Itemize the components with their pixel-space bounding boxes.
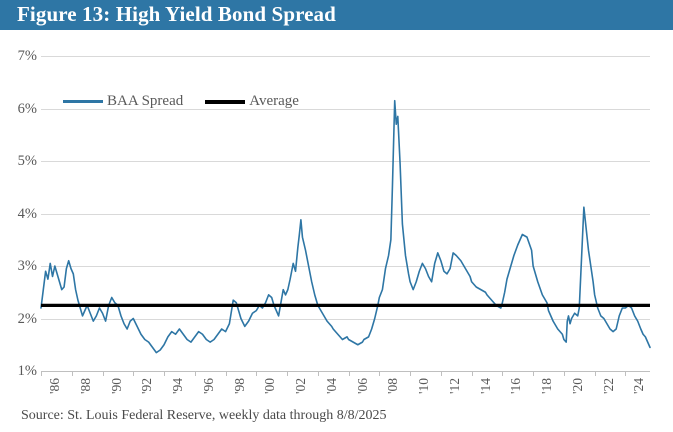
x-axis-tick-label: '06 bbox=[355, 378, 371, 394]
x-axis-tick bbox=[502, 371, 503, 376]
x-axis-tick-label: '88 bbox=[78, 378, 94, 394]
x-axis-tick-label: '92 bbox=[139, 378, 155, 394]
x-axis-tick-label: '98 bbox=[232, 378, 248, 394]
x-axis-tick-label: '10 bbox=[416, 378, 432, 394]
y-axis-tick-label: 3% bbox=[5, 259, 37, 274]
y-axis-tick-label: 2% bbox=[5, 312, 37, 327]
x-axis-tick bbox=[195, 371, 196, 376]
x-axis-tick bbox=[133, 371, 134, 376]
x-axis-tick bbox=[595, 371, 596, 376]
x-axis-tick-label: '24 bbox=[631, 378, 647, 394]
x-axis-tick bbox=[379, 371, 380, 376]
x-axis-tick-label: '14 bbox=[478, 378, 494, 394]
x-axis-tick-label: '04 bbox=[324, 378, 340, 394]
x-axis-tick-label: '96 bbox=[201, 378, 217, 394]
x-axis-tick bbox=[318, 371, 319, 376]
line-swatch-icon bbox=[205, 100, 245, 104]
x-axis-tick-label: '18 bbox=[539, 378, 555, 394]
x-axis-tick-label: '90 bbox=[109, 378, 125, 394]
page-title: Figure 13: High Yield Bond Spread bbox=[17, 2, 336, 27]
legend-label-average: Average bbox=[249, 94, 299, 109]
figure-container: Figure 13: High Yield Bond Spread 7%6%5%… bbox=[0, 0, 673, 432]
x-axis-tick-label: '94 bbox=[170, 378, 186, 394]
x-axis-tick bbox=[226, 371, 227, 376]
x-axis-tick-label: '86 bbox=[47, 378, 63, 394]
y-axis-labels: 7%6%5%4%3%2%1% bbox=[0, 56, 37, 371]
x-axis-tick-label: '02 bbox=[293, 378, 309, 394]
y-axis-tick-label: 7% bbox=[5, 49, 37, 64]
line-swatch-icon bbox=[63, 100, 103, 103]
x-axis-tick bbox=[256, 371, 257, 376]
source-note: Source: St. Louis Federal Reserve, weekl… bbox=[21, 408, 386, 424]
chart-legend: BAA Spread Average bbox=[63, 94, 299, 109]
y-axis-tick-label: 6% bbox=[5, 102, 37, 117]
x-axis-tick bbox=[164, 371, 165, 376]
x-axis-tick bbox=[410, 371, 411, 376]
chart-area: 7%6%5%4%3%2%1% '86'88'90'92'94'96'98'00'… bbox=[0, 30, 673, 405]
x-axis-tick bbox=[472, 371, 473, 376]
legend-label-baa-spread: BAA Spread bbox=[107, 94, 183, 109]
x-axis-tick bbox=[349, 371, 350, 376]
y-axis-tick-label: 5% bbox=[5, 154, 37, 169]
x-axis-tick-label: '16 bbox=[508, 378, 524, 394]
y-axis-tick-label: 1% bbox=[5, 364, 37, 379]
title-banner: Figure 13: High Yield Bond Spread bbox=[0, 0, 673, 30]
legend-item-baa-spread: BAA Spread bbox=[63, 94, 183, 109]
x-axis-tick bbox=[41, 371, 42, 376]
y-axis-tick-label: 4% bbox=[5, 207, 37, 222]
x-axis-tick bbox=[625, 371, 626, 376]
legend-item-average: Average bbox=[205, 94, 299, 109]
x-axis-tick bbox=[441, 371, 442, 376]
x-axis-tick-label: '20 bbox=[570, 378, 586, 394]
x-axis-tick bbox=[287, 371, 288, 376]
x-axis-tick bbox=[533, 371, 534, 376]
x-axis-tick-label: '08 bbox=[385, 378, 401, 394]
x-axis-tick bbox=[72, 371, 73, 376]
x-axis-tick-label: '12 bbox=[447, 378, 463, 394]
x-axis-tick-label: '22 bbox=[601, 378, 617, 394]
x-axis-tick bbox=[564, 371, 565, 376]
x-axis-tick bbox=[103, 371, 104, 376]
x-axis-tick-label: '00 bbox=[262, 378, 278, 394]
